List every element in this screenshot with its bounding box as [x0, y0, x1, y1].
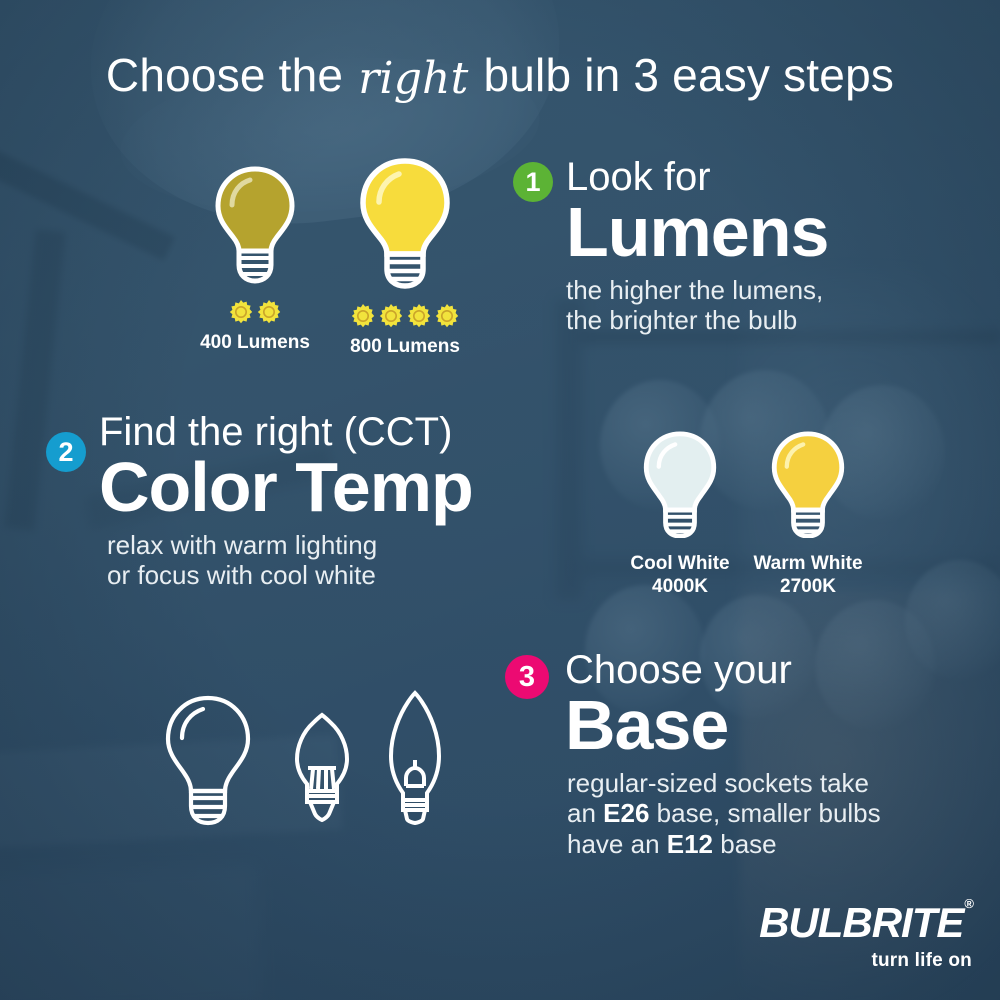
logo-text: BULBRITE [759, 899, 963, 946]
registered-trademark-icon: ® [964, 896, 973, 911]
bulb-800-lumens-icon [356, 157, 454, 289]
led-candle-bulb-outline [297, 715, 347, 820]
cct-item-cool-white: Cool White 4000K [615, 430, 745, 599]
title-script-word: right [356, 53, 470, 104]
lumens-800-label: 800 Lumens [330, 336, 480, 358]
bulb-warm-white-icon [765, 430, 851, 538]
bulb-400-lumens-icon [212, 165, 298, 285]
logo-tagline: turn life on [759, 950, 972, 972]
step-3-badge: 3 [505, 655, 549, 699]
infographic-poster: Choose the right bulb in 3 easy steps 1 … [0, 0, 1000, 1000]
step-3-sub-line-3: have an E12 base [567, 829, 881, 860]
base-bulb-outlines [160, 690, 460, 830]
lumens-item-800: 800 Lumens [330, 157, 480, 358]
sun-icon [257, 300, 281, 324]
step-1-heading-small: Look for [566, 157, 828, 197]
step-2-sub-line-1: relax with warm lighting [107, 530, 473, 561]
step-3-sub-3a: have an [567, 829, 667, 859]
cct-warm-white-kelvin: 2700K [743, 576, 873, 599]
step-1-sub-line-1: the higher the lumens, [566, 275, 828, 306]
step-2-sub-line-2: or focus with cool white [107, 560, 473, 591]
bulb-cool-white-icon [637, 430, 723, 538]
lumens-400-sun-rating [180, 300, 330, 324]
step-2-heading-small: Find the right (CCT) [99, 412, 473, 452]
step-3-block: 3 Choose your Base regular-sized sockets… [505, 650, 881, 860]
sun-icon [435, 304, 459, 328]
sun-icon [351, 304, 375, 328]
step-3-sub-2c: base, smaller bulbs [649, 798, 880, 828]
step-3-heading-small: Choose your [565, 650, 881, 690]
lumens-400-label: 400 Lumens [180, 332, 330, 354]
step-3-sub-2a: an [567, 798, 603, 828]
base-code-e26: E26 [603, 798, 649, 828]
step-3-heading-big: Base [565, 692, 881, 759]
page-title: Choose the right bulb in 3 easy steps [0, 48, 1000, 102]
base-shapes-group [160, 690, 460, 835]
step-3-sub-line-1: regular-sized sockets take [567, 768, 881, 799]
lumens-item-400: 400 Lumens [180, 165, 330, 354]
flame-candelabra-bulb-outline [391, 693, 439, 823]
a-shape-bulb-outline [168, 698, 248, 823]
sun-icon [407, 304, 431, 328]
step-3-sub-line-2: an E26 base, smaller bulbs [567, 798, 881, 829]
title-after: bulb in 3 easy steps [483, 49, 894, 101]
cct-cool-white-kelvin: 4000K [615, 576, 745, 599]
cct-warm-white-name: Warm White [743, 553, 873, 576]
title-before: Choose the [106, 49, 343, 101]
base-code-e12: E12 [667, 829, 713, 859]
sun-icon [229, 300, 253, 324]
step-1-sub-line-2: the brighter the bulb [566, 305, 828, 336]
brand-logo: BULBRITE® turn life on [759, 902, 972, 972]
lumens-800-sun-rating [330, 304, 480, 328]
logo-wordmark: BULBRITE® [759, 902, 972, 944]
step-2-badge: 2 [46, 432, 86, 472]
step-1-block: 1 Look for Lumens the higher the lumens,… [513, 157, 828, 336]
step-2-block: 2 Find the right (CCT) Color Temp relax … [46, 412, 473, 591]
step-1-heading-big: Lumens [566, 199, 828, 266]
sun-icon [379, 304, 403, 328]
cct-item-warm-white: Warm White 2700K [743, 430, 873, 599]
step-3-sub-3c: base [713, 829, 777, 859]
step-1-badge: 1 [513, 162, 553, 202]
cct-cool-white-name: Cool White [615, 553, 745, 576]
step-2-heading-big: Color Temp [99, 454, 473, 521]
